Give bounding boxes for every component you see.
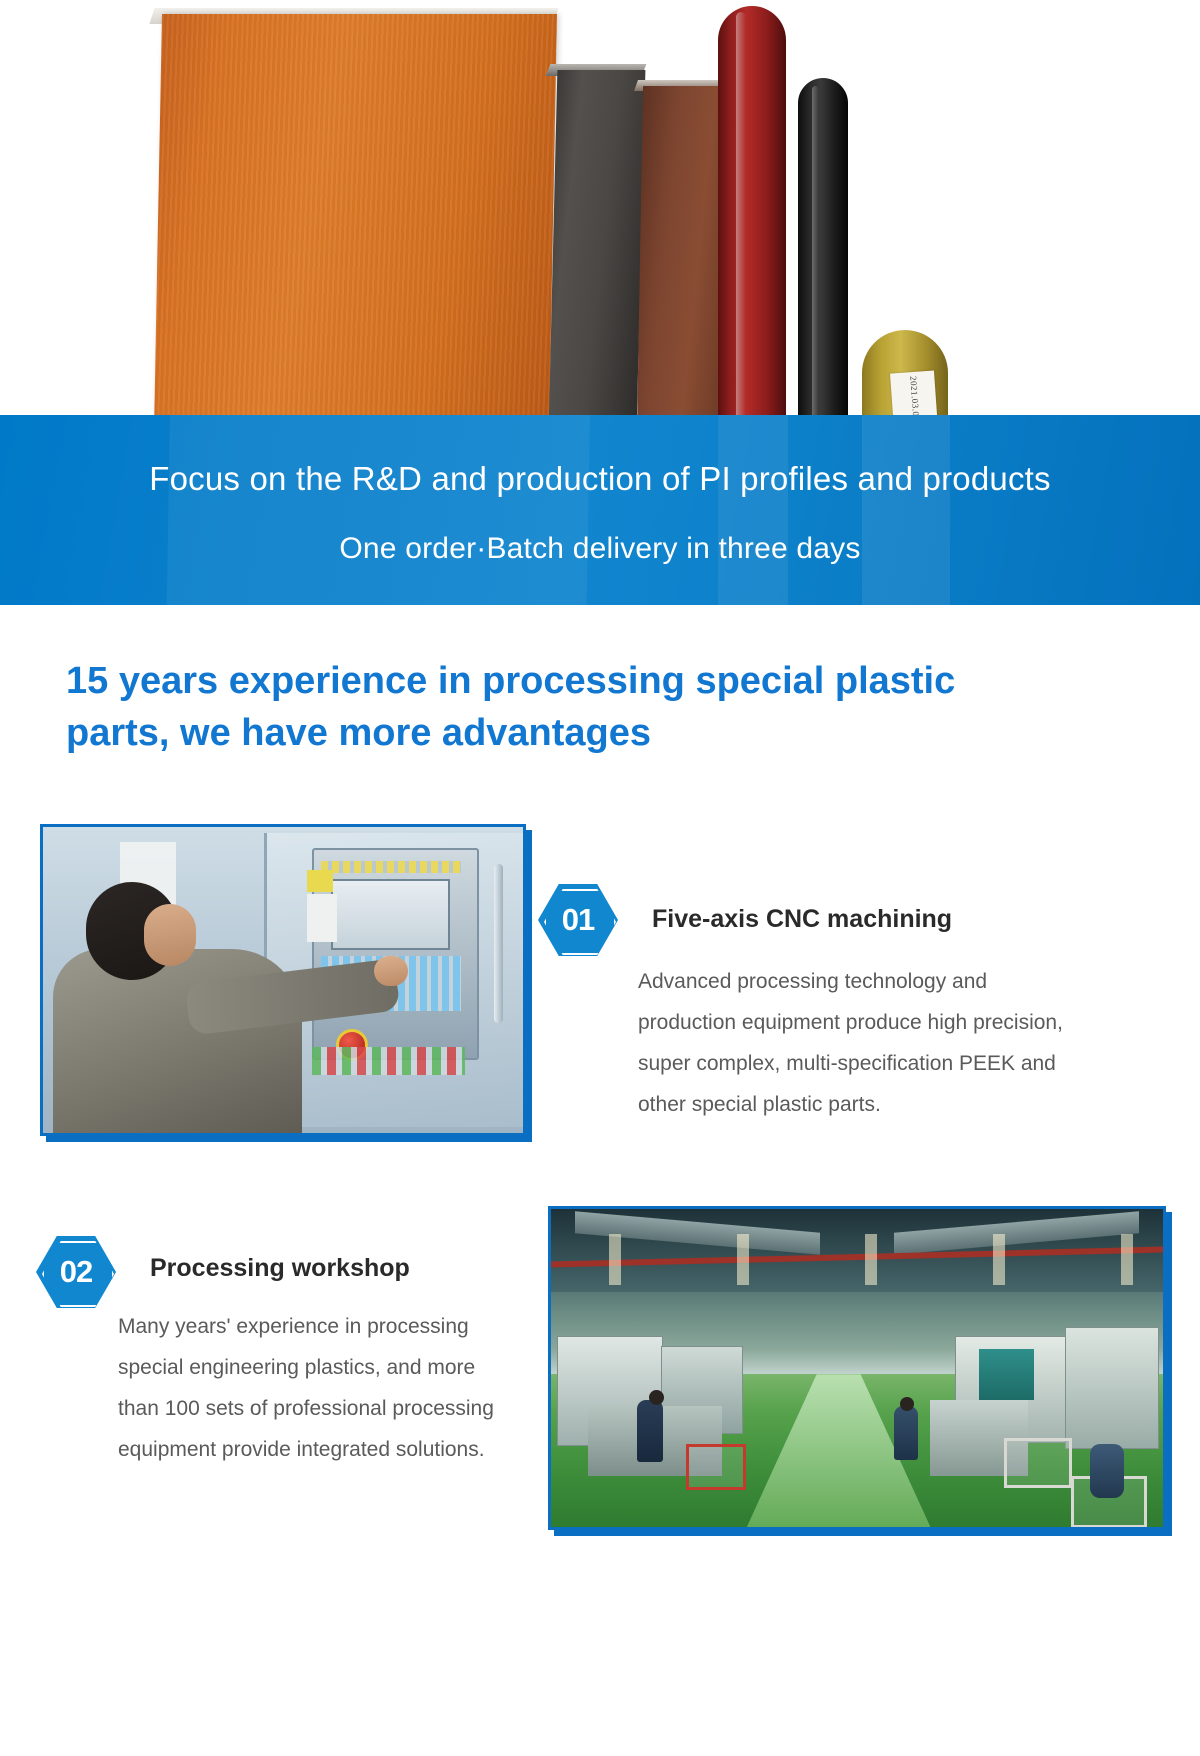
red-plastic-rod — [718, 6, 786, 430]
grey-plastic-slab — [549, 70, 646, 430]
hero-product-image: 2021.03.02 — [0, 0, 1200, 430]
feature-1-body: Advanced processing technology and produ… — [638, 962, 1068, 1126]
workshop-worker-2-head — [900, 1397, 914, 1411]
feature-1-number-badge: 01 — [538, 884, 618, 956]
feature-1-title: Five-axis CNC machining — [652, 905, 952, 934]
feature-2-number: 02 — [36, 1236, 116, 1308]
feature-2-body: Many years' experience in processing spe… — [118, 1307, 518, 1471]
hero-photo-stage: 2021.03.02 — [0, 0, 1200, 430]
workshop-worker-1 — [637, 1400, 663, 1462]
feature-1-photo — [40, 824, 526, 1136]
banner-ghost-shape-2 — [718, 415, 788, 605]
section-heading: 15 years experience in processing specia… — [66, 655, 1066, 760]
trolley-left — [686, 1444, 746, 1490]
cabinet-door-handle — [494, 864, 503, 1023]
red-rod-highlight — [736, 12, 746, 422]
feature-1-number: 01 — [538, 884, 618, 956]
cnc-panel-top-keys — [321, 861, 460, 873]
operator-hand — [374, 956, 408, 986]
teal-machine-panel — [979, 1349, 1034, 1400]
cnc-panel-buttons — [312, 1047, 466, 1075]
feature-2-photo — [548, 1206, 1166, 1530]
tagline-banner: Focus on the R&D and production of PI pr… — [0, 415, 1200, 605]
machine-right-2 — [1065, 1327, 1159, 1450]
workshop-worker-2 — [894, 1406, 918, 1460]
black-plastic-rod — [798, 78, 848, 430]
banner-ghost-shape-1 — [165, 415, 594, 605]
ceiling-lights — [551, 1234, 1163, 1285]
feature-2-number-badge: 02 — [36, 1236, 116, 1308]
yellow-warning-sticker — [307, 870, 333, 892]
banner-headline-secondary: One order·Batch delivery in three days — [0, 532, 1200, 566]
feature-2-title: Processing workshop — [150, 1254, 410, 1283]
banner-ghost-shape-3 — [862, 415, 950, 605]
operator-face — [144, 904, 196, 966]
trolley-right-1 — [1004, 1438, 1072, 1488]
orange-phenolic-sheet — [154, 14, 557, 430]
cnc-panel-screen — [331, 879, 450, 950]
black-rod-highlight — [812, 86, 819, 426]
white-instruction-sticker — [307, 894, 337, 942]
workshop-worker-3 — [1090, 1444, 1124, 1498]
banner-headline-primary: Focus on the R&D and production of PI pr… — [0, 460, 1200, 498]
